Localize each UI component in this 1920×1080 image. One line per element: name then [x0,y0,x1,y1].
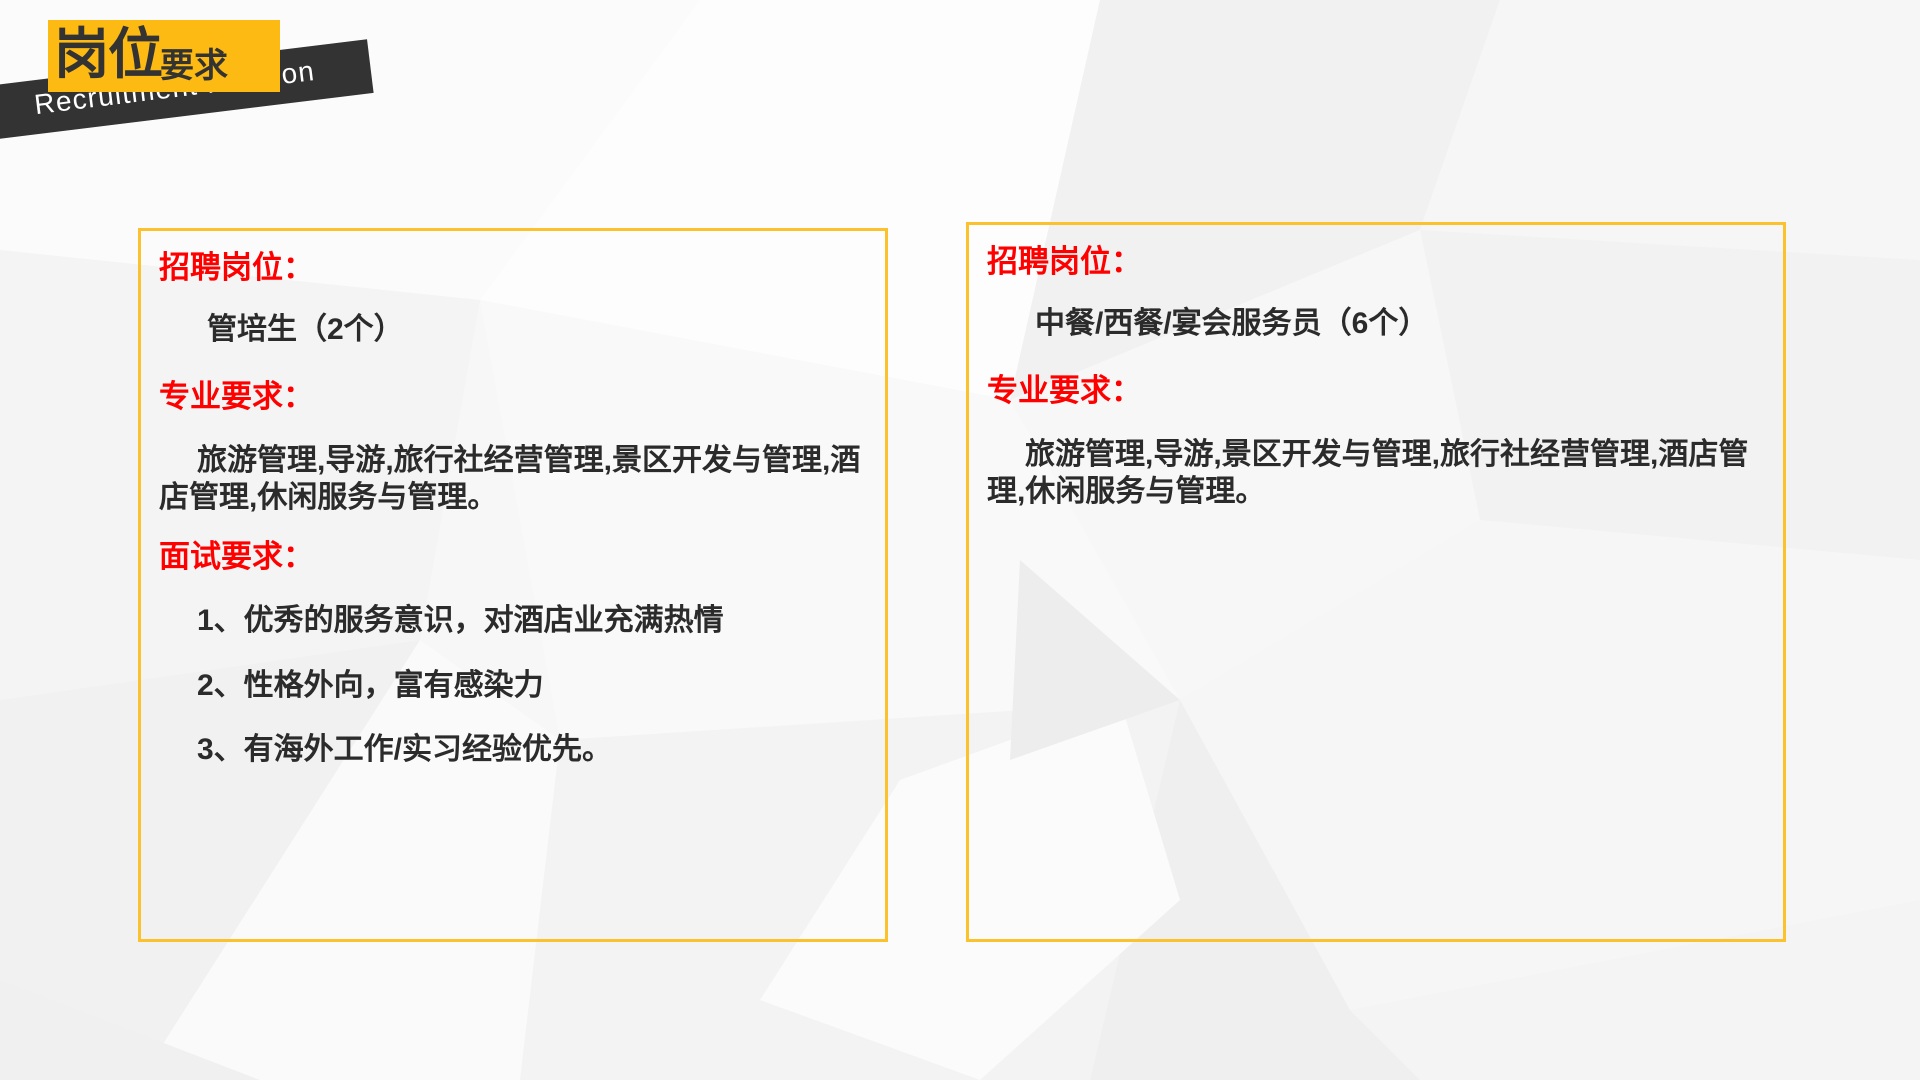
position-value: 中餐/西餐/宴会服务员（6个） [987,306,1763,343]
spacer [159,417,865,443]
interview-label: 面试要求： [159,538,865,577]
major-value: 旅游管理,导游,旅行社经营管理,景区开发与管理,酒店管理,休闲服务与管理。 [159,443,865,516]
spacer [987,411,1763,437]
spacer [159,577,865,603]
job-card-left: 招聘岗位： 管培生（2个） 专业要求： 旅游管理,导游,旅行社经营管理,景区开发… [138,228,888,942]
page-subtitle: 要求 [160,49,228,83]
position-label: 招聘岗位： [159,249,865,288]
position-value: 管培生（2个） [159,312,865,349]
interview-item: 1、优秀的服务意识，对酒店业充满热情 [159,603,865,640]
spacer [159,288,865,312]
job-card-right: 招聘岗位： 中餐/西餐/宴会服务员（6个） 专业要求： 旅游管理,导游,景区开发… [966,222,1786,942]
interview-item: 3、有海外工作/实习经验优先。 [159,732,865,769]
job-card-left-body: 招聘岗位： 管培生（2个） 专业要求： 旅游管理,导游,旅行社经营管理,景区开发… [141,231,885,769]
page-title-block: Recruitment Position 岗位 要求 [0,0,420,170]
page-title: 岗位 [54,27,162,82]
spacer [159,640,865,668]
major-value: 旅游管理,导游,景区开发与管理,旅行社经营管理,酒店管理,休闲服务与管理。 [987,437,1763,510]
title-badge: 岗位 要求 [48,20,280,92]
spacer [159,348,865,378]
job-card-right-body: 招聘岗位： 中餐/西餐/宴会服务员（6个） 专业要求： 旅游管理,导游,景区开发… [969,225,1783,510]
spacer [987,342,1763,372]
spacer [159,704,865,732]
interview-item: 2、性格外向，富有感染力 [159,668,865,705]
position-label: 招聘岗位： [987,243,1763,282]
spacer [987,282,1763,306]
major-label: 专业要求： [987,372,1763,411]
major-label: 专业要求： [159,378,865,417]
spacer [159,516,865,538]
